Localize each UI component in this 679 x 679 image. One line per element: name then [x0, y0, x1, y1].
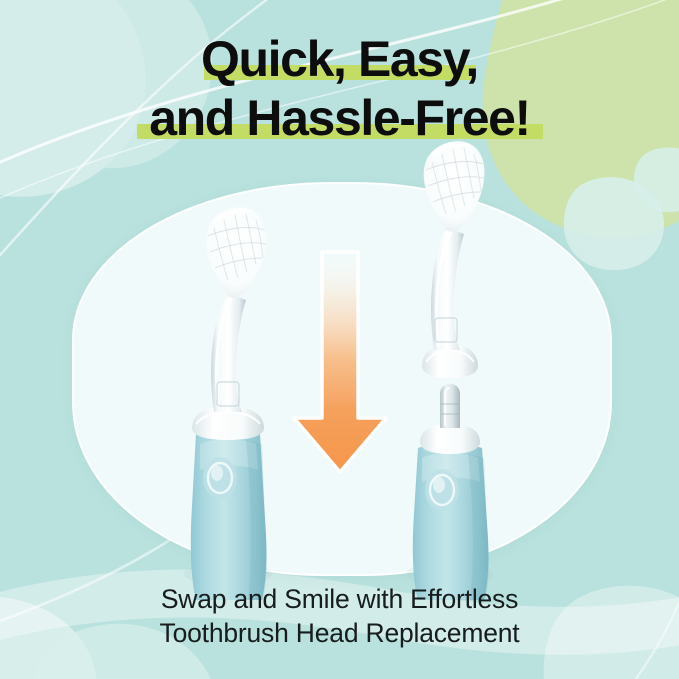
product-panel: [72, 182, 612, 576]
marketing-image-canvas: Quick, Easy, and Hassle-Free!: [0, 0, 679, 679]
